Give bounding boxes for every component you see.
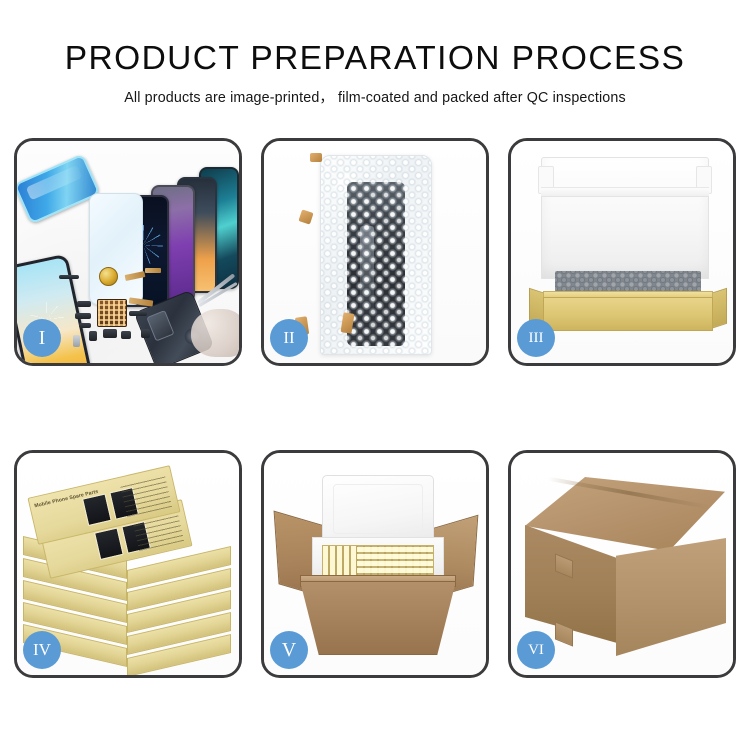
spare-part-strip — [59, 275, 79, 279]
carton-left-face — [525, 525, 617, 643]
process-step-6: VI — [508, 450, 736, 678]
step-badge-3: III — [517, 319, 555, 357]
spare-part-connector — [75, 313, 91, 319]
spare-part-connector — [129, 311, 147, 316]
carton-right-face — [616, 538, 726, 656]
technician-hand — [191, 309, 239, 357]
foam-box-lid — [322, 475, 434, 545]
spare-part-vibrator — [141, 329, 150, 338]
tape-piece — [298, 209, 313, 224]
foam-fold-band — [541, 187, 709, 197]
foam-sheet-upright — [541, 157, 709, 279]
step-badge-4: IV — [23, 631, 61, 669]
process-step-grid: I II — [14, 138, 736, 678]
page-subtitle: All products are image-printed， film-coa… — [0, 86, 750, 107]
spare-part-connector — [79, 323, 91, 328]
box-tray-front-wall — [543, 297, 713, 331]
spare-part-camera-module — [103, 329, 117, 338]
spare-part-speaker — [121, 331, 131, 339]
tape-piece — [310, 153, 322, 162]
bubble-wrap-bag — [320, 155, 432, 355]
tempered-glass-protector — [89, 193, 143, 305]
process-step-5: V — [261, 450, 489, 678]
step-badge-6: VI — [517, 631, 555, 669]
process-step-1: I — [14, 138, 242, 366]
bubble-texture — [321, 156, 431, 354]
spare-part-sim-tray — [73, 335, 80, 347]
page-title: PRODUCT PREPARATION PROCESS — [0, 41, 750, 76]
carton-body — [300, 581, 456, 655]
process-step-3: III — [508, 138, 736, 366]
box-label-window — [94, 527, 124, 560]
box-label-spec-lines — [120, 476, 172, 518]
step-badge-5: V — [270, 631, 308, 669]
step-badge-2: II — [270, 319, 308, 357]
spare-part-flex-cable — [145, 268, 161, 273]
process-step-2: II — [261, 138, 489, 366]
spare-part-chip-array — [97, 299, 127, 327]
process-step-4: Mobile Phone Spare Parts Mobile Phone Sp… — [14, 450, 242, 678]
step-badge-1: I — [23, 319, 61, 357]
spare-part-connector — [77, 301, 91, 307]
box-label-window — [82, 493, 112, 526]
preparation-process-infographic: PRODUCT PREPARATION PROCESS All products… — [0, 0, 750, 750]
header: PRODUCT PREPARATION PROCESS All products… — [0, 0, 750, 107]
spare-part-gold-disc — [99, 267, 118, 286]
spare-part-button — [89, 331, 97, 341]
